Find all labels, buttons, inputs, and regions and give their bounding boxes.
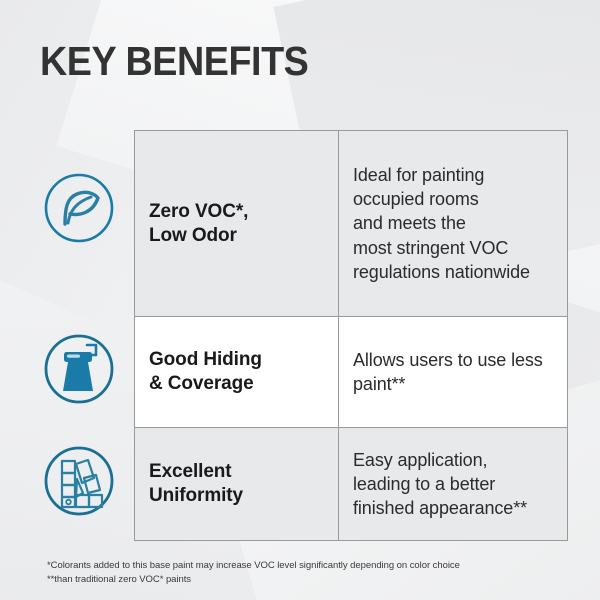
table-row: Zero VOC*, Low Odor Ideal for painting o… [135, 131, 568, 317]
benefit-description: Allows users to use less paint** [339, 317, 568, 428]
benefit-title: Zero VOC*, Low Odor [135, 131, 339, 317]
paint-roller-icon [43, 333, 115, 405]
page-title: KEY BENEFITS [40, 38, 308, 85]
benefits-table: Zero VOC*, Low Odor Ideal for painting o… [134, 130, 568, 541]
footnote-double-asterisk: **than traditional zero VOC* paints [47, 573, 460, 588]
footnotes: *Colorants added to this base paint may … [47, 559, 460, 588]
benefit-description: Easy application, leading to a better fi… [339, 428, 568, 541]
benefit-description: Ideal for painting occupied rooms and me… [339, 131, 568, 317]
benefit-title: Good Hiding & Coverage [135, 317, 339, 428]
color-fan-deck-icon [43, 445, 115, 517]
footnote-single-asterisk: *Colorants added to this base paint may … [47, 559, 460, 574]
leaf-icon [43, 172, 115, 244]
table-row: Good Hiding & Coverage Allows users to u… [135, 317, 568, 428]
infographic-canvas: KEY BENEFITS [0, 0, 600, 600]
table-row: Excellent Uniformity Easy application, l… [135, 428, 568, 541]
benefit-title: Excellent Uniformity [135, 428, 339, 541]
